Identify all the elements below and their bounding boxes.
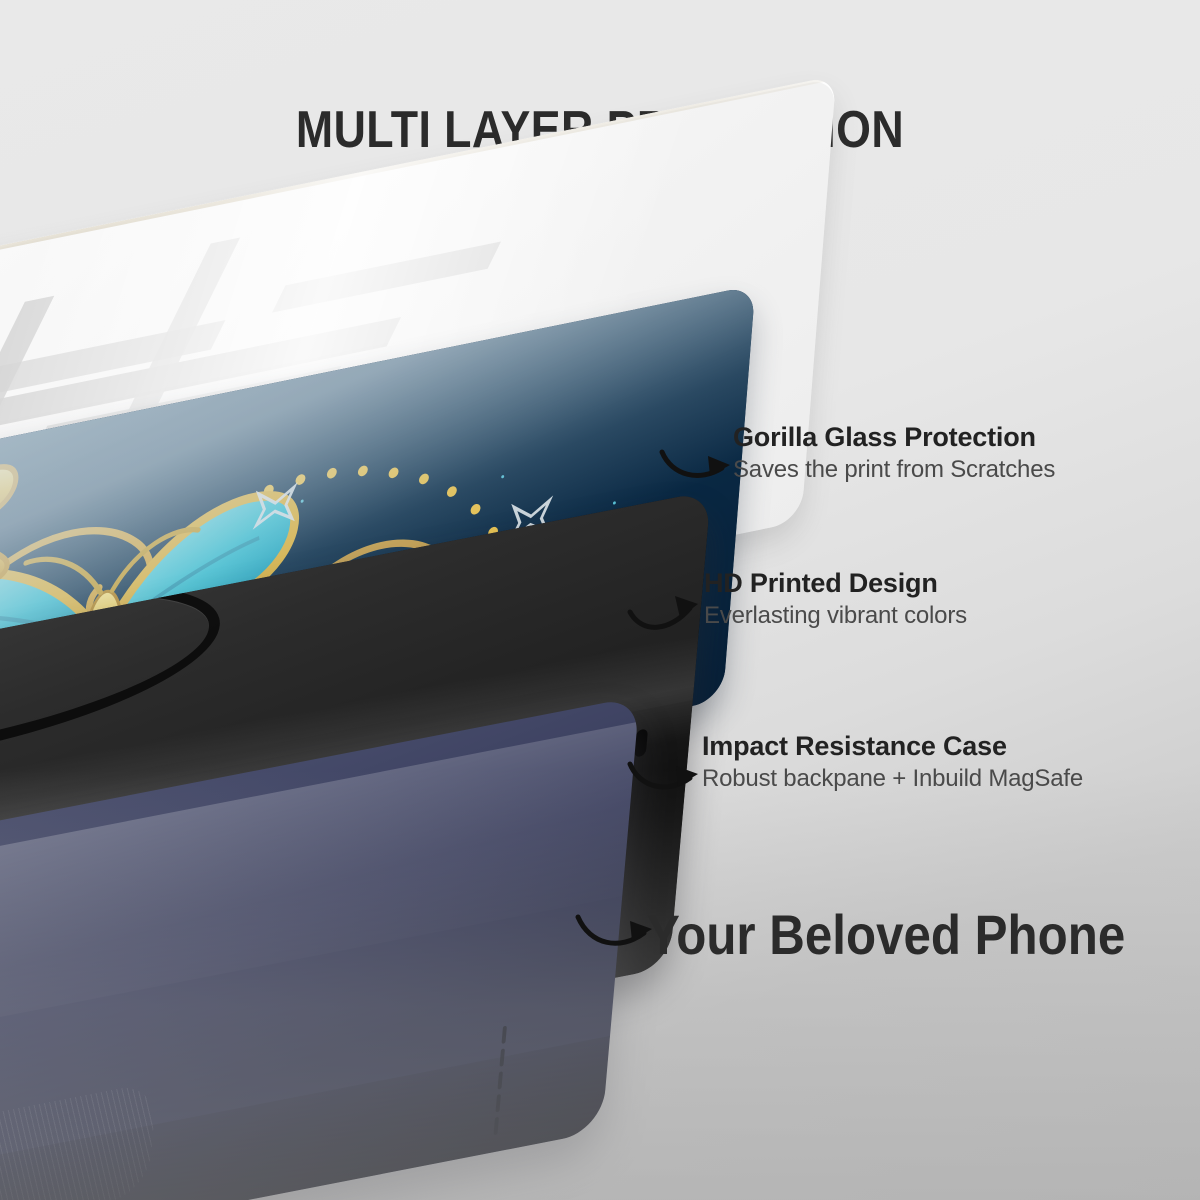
annotation-subtext: Everlasting vibrant colors	[704, 600, 967, 631]
annotation-gorilla-glass: Gorilla Glass Protection Saves the print…	[733, 420, 1055, 485]
annotation-headline: HD Printed Design	[704, 566, 967, 600]
annotation-impact-case: Impact Resistance Case Robust backpane +…	[702, 729, 1083, 794]
annotation-arrow-gorilla-glass	[660, 446, 736, 488]
annotation-arrow-hd-print	[628, 588, 704, 630]
annotation-subtext: Robust backpane + Inbuild MagSafe	[702, 763, 1083, 794]
infographic-canvas: MULTI LAYER PROTECTION MOBILE CASE	[0, 0, 1200, 1200]
annotation-subtext: Saves the print from Scratches	[733, 454, 1055, 485]
annotation-headline: Impact Resistance Case	[702, 729, 1083, 763]
annotation-hd-print: HD Printed Design Everlasting vibrant co…	[704, 566, 967, 631]
annotation-arrow-impact-case	[628, 752, 704, 794]
phone-layer	[0, 800, 630, 1200]
phone-callout-label: Your Beloved Phone	[647, 906, 1125, 964]
annotation-headline: Gorilla Glass Protection	[733, 420, 1055, 454]
